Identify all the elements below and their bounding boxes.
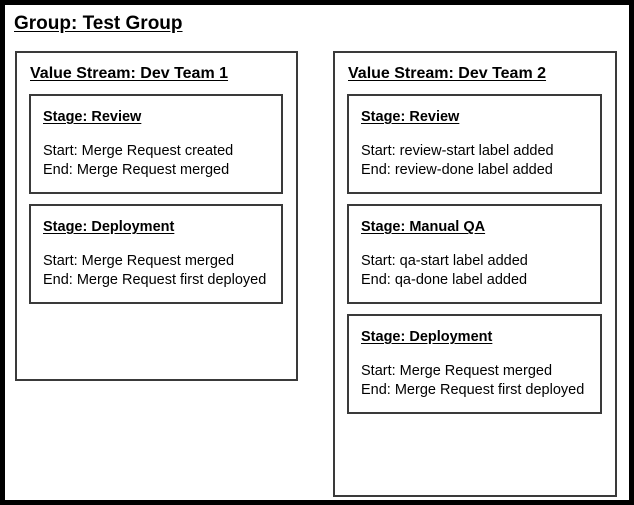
stage-card-review: Stage: Review Start: review-start label … bbox=[347, 94, 602, 194]
stage-list: Stage: Review Start: review-start label … bbox=[335, 94, 615, 414]
stage-card-deployment: Stage: Deployment Start: Merge Request m… bbox=[347, 314, 602, 414]
stage-list: Stage: Review Start: Merge Request creat… bbox=[17, 94, 296, 304]
group-diagram-canvas: Group: Test Group Value Stream: Dev Team… bbox=[0, 0, 634, 505]
stage-start-event: Start: review-start label added bbox=[361, 142, 588, 161]
stage-start-event: Start: qa-start label added bbox=[361, 252, 588, 271]
stage-title: Stage: Manual QA bbox=[361, 219, 588, 235]
value-stream-card-dev-team-1: Value Stream: Dev Team 1 Stage: Review S… bbox=[15, 51, 298, 381]
stage-title: Stage: Review bbox=[361, 109, 588, 125]
stage-title: Stage: Review bbox=[43, 109, 269, 125]
stage-card-deployment: Stage: Deployment Start: Merge Request m… bbox=[29, 204, 283, 304]
stage-start-event: Start: Merge Request merged bbox=[361, 362, 588, 381]
stage-end-event: End: Merge Request first deployed bbox=[43, 271, 269, 290]
stage-body: Start: Merge Request created End: Merge … bbox=[43, 142, 269, 180]
stage-body: Start: Merge Request merged End: Merge R… bbox=[361, 362, 588, 400]
stage-end-event: End: Merge Request merged bbox=[43, 161, 269, 180]
stage-title: Stage: Deployment bbox=[361, 329, 588, 345]
value-stream-columns: Value Stream: Dev Team 1 Stage: Review S… bbox=[5, 47, 629, 500]
stage-body: Start: Merge Request merged End: Merge R… bbox=[43, 252, 269, 290]
value-stream-title: Value Stream: Dev Team 1 bbox=[30, 65, 296, 83]
stage-title: Stage: Deployment bbox=[43, 219, 269, 235]
value-stream-title: Value Stream: Dev Team 2 bbox=[348, 65, 615, 83]
stage-end-event: End: Merge Request first deployed bbox=[361, 381, 588, 400]
stage-card-manual-qa: Stage: Manual QA Start: qa-start label a… bbox=[347, 204, 602, 304]
stage-body: Start: qa-start label added End: qa-done… bbox=[361, 252, 588, 290]
stage-end-event: End: qa-done label added bbox=[361, 271, 588, 290]
stage-body: Start: review-start label added End: rev… bbox=[361, 142, 588, 180]
stage-start-event: Start: Merge Request created bbox=[43, 142, 269, 161]
stage-start-event: Start: Merge Request merged bbox=[43, 252, 269, 271]
page-title: Group: Test Group bbox=[14, 13, 183, 35]
stage-card-review: Stage: Review Start: Merge Request creat… bbox=[29, 94, 283, 194]
stage-end-event: End: review-done label added bbox=[361, 161, 588, 180]
value-stream-card-dev-team-2: Value Stream: Dev Team 2 Stage: Review S… bbox=[333, 51, 617, 497]
